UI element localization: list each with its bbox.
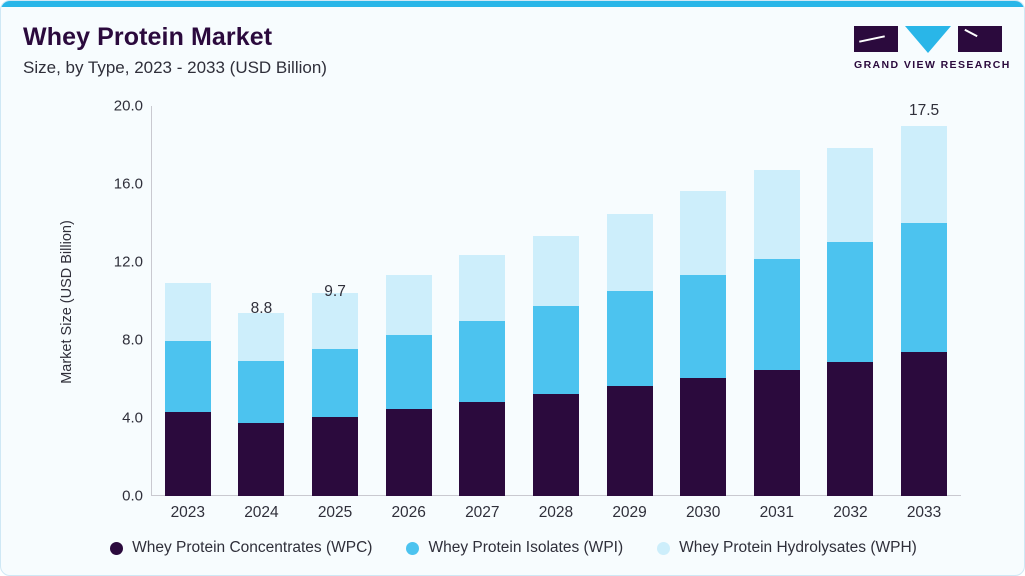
bar-column[interactable] xyxy=(814,106,887,496)
bar-stack xyxy=(165,283,211,496)
bar-segment xyxy=(459,255,505,320)
bar-segment xyxy=(680,191,726,275)
bar-segment xyxy=(607,291,653,386)
x-axis-tick-label: 2029 xyxy=(593,504,666,522)
page-title: Whey Protein Market xyxy=(23,23,327,52)
bar-column[interactable]: 9.7 xyxy=(299,106,372,496)
y-axis-tick-label: 4.0 xyxy=(122,410,143,427)
brand-logo: GRAND VIEW RESEARCH xyxy=(854,26,1002,71)
bar-stack xyxy=(312,293,358,496)
chart-subtitle: Size, by Type, 2023 - 2033 (USD Billion) xyxy=(23,58,327,78)
x-axis-tick-label: 2031 xyxy=(740,504,813,522)
x-axis-tick-label: 2028 xyxy=(519,504,592,522)
chart-header: Whey Protein Market Size, by Type, 2023 … xyxy=(23,23,327,77)
plot-area: 8.89.717.5 xyxy=(151,106,961,496)
bar-segment xyxy=(459,402,505,496)
bar-column[interactable] xyxy=(151,106,224,496)
bar-segment xyxy=(165,283,211,341)
bar-column[interactable]: 8.8 xyxy=(225,106,298,496)
bar-stack xyxy=(827,148,873,496)
bar-value-label: 9.7 xyxy=(324,283,346,301)
bar-column[interactable] xyxy=(519,106,592,496)
legend-label: Whey Protein Concentrates (WPC) xyxy=(132,539,372,557)
bar-stack xyxy=(386,275,432,496)
bar-segment xyxy=(238,313,284,362)
top-accent-bar xyxy=(1,1,1024,7)
bar-column[interactable] xyxy=(446,106,519,496)
logo-triangle-icon xyxy=(905,26,951,53)
bar-stack xyxy=(754,170,800,496)
x-axis-tick-label: 2033 xyxy=(888,504,961,522)
bar-group: 8.89.717.5 xyxy=(151,106,961,496)
bar-segment xyxy=(607,386,653,496)
bar-value-label: 8.8 xyxy=(251,300,273,318)
bar-segment xyxy=(312,349,358,417)
x-axis-tick-label: 2027 xyxy=(446,504,519,522)
bar-column[interactable] xyxy=(372,106,445,496)
bar-stack xyxy=(533,236,579,496)
legend-label: Whey Protein Hydrolysates (WPH) xyxy=(679,539,917,557)
bar-stack xyxy=(607,214,653,496)
bar-segment xyxy=(754,259,800,370)
y-axis-tick-label: 20.0 xyxy=(114,98,143,115)
legend-color-swatch-icon xyxy=(110,542,123,555)
bar-segment xyxy=(533,394,579,496)
legend-color-swatch-icon xyxy=(406,542,419,555)
bar-segment xyxy=(165,341,211,412)
bar-segment xyxy=(754,370,800,496)
bar-value-label: 17.5 xyxy=(909,102,939,120)
bar-segment xyxy=(827,242,873,363)
bar-segment xyxy=(901,352,947,496)
bar-segment xyxy=(312,293,358,349)
bar-segment xyxy=(680,378,726,496)
logo-marks xyxy=(854,26,1002,54)
bar-segment xyxy=(459,321,505,403)
x-axis-tick-label: 2026 xyxy=(372,504,445,522)
bar-segment xyxy=(901,126,947,224)
plot-wrapper: Market Size (USD Billion) 0.04.08.012.01… xyxy=(1,96,1025,516)
bar-segment xyxy=(238,423,284,496)
bar-column[interactable] xyxy=(740,106,813,496)
bar-segment xyxy=(386,275,432,335)
bar-segment xyxy=(754,170,800,259)
bar-segment xyxy=(386,409,432,496)
x-axis-tick-label: 2024 xyxy=(225,504,298,522)
y-axis-tick-label: 0.0 xyxy=(122,488,143,505)
y-axis-tick-label: 8.0 xyxy=(122,332,143,349)
bar-segment xyxy=(680,275,726,378)
y-axis-tick-labels: 0.04.08.012.016.020.0 xyxy=(89,106,143,496)
bar-segment xyxy=(312,417,358,496)
x-axis-tick-label: 2032 xyxy=(814,504,887,522)
bar-column[interactable] xyxy=(667,106,740,496)
legend-item[interactable]: Whey Protein Concentrates (WPC) xyxy=(110,539,372,557)
x-axis-tick-labels: 2023202420252026202720282029203020312032… xyxy=(151,500,961,526)
legend-item[interactable]: Whey Protein Hydrolysates (WPH) xyxy=(657,539,917,557)
bar-segment xyxy=(533,306,579,394)
legend-color-swatch-icon xyxy=(657,542,670,555)
bar-column[interactable] xyxy=(593,106,666,496)
chart-legend: Whey Protein Concentrates (WPC)Whey Prot… xyxy=(1,539,1025,557)
bar-stack xyxy=(680,191,726,496)
logo-box-left-icon xyxy=(854,26,898,52)
bar-stack xyxy=(459,255,505,496)
bar-segment xyxy=(827,362,873,496)
x-axis-tick-label: 2025 xyxy=(299,504,372,522)
bar-stack xyxy=(901,126,947,496)
bar-segment xyxy=(386,335,432,409)
bar-segment xyxy=(607,214,653,291)
bar-column[interactable]: 17.5 xyxy=(888,106,961,496)
bar-segment xyxy=(238,361,284,422)
y-axis-tick-label: 16.0 xyxy=(114,176,143,193)
logo-box-right-icon xyxy=(958,26,1002,52)
x-axis-tick-label: 2023 xyxy=(151,504,224,522)
bar-segment xyxy=(165,412,211,496)
logo-text: GRAND VIEW RESEARCH xyxy=(854,59,1002,71)
y-axis-tick-label: 12.0 xyxy=(114,254,143,271)
chart-card: Whey Protein Market Size, by Type, 2023 … xyxy=(0,0,1025,576)
bar-segment xyxy=(827,148,873,242)
legend-label: Whey Protein Isolates (WPI) xyxy=(428,539,623,557)
x-axis-tick-label: 2030 xyxy=(667,504,740,522)
y-axis-title: Market Size (USD Billion) xyxy=(59,220,75,384)
bar-stack xyxy=(238,313,284,496)
bar-segment xyxy=(901,223,947,352)
legend-item[interactable]: Whey Protein Isolates (WPI) xyxy=(406,539,623,557)
bar-segment xyxy=(533,236,579,306)
